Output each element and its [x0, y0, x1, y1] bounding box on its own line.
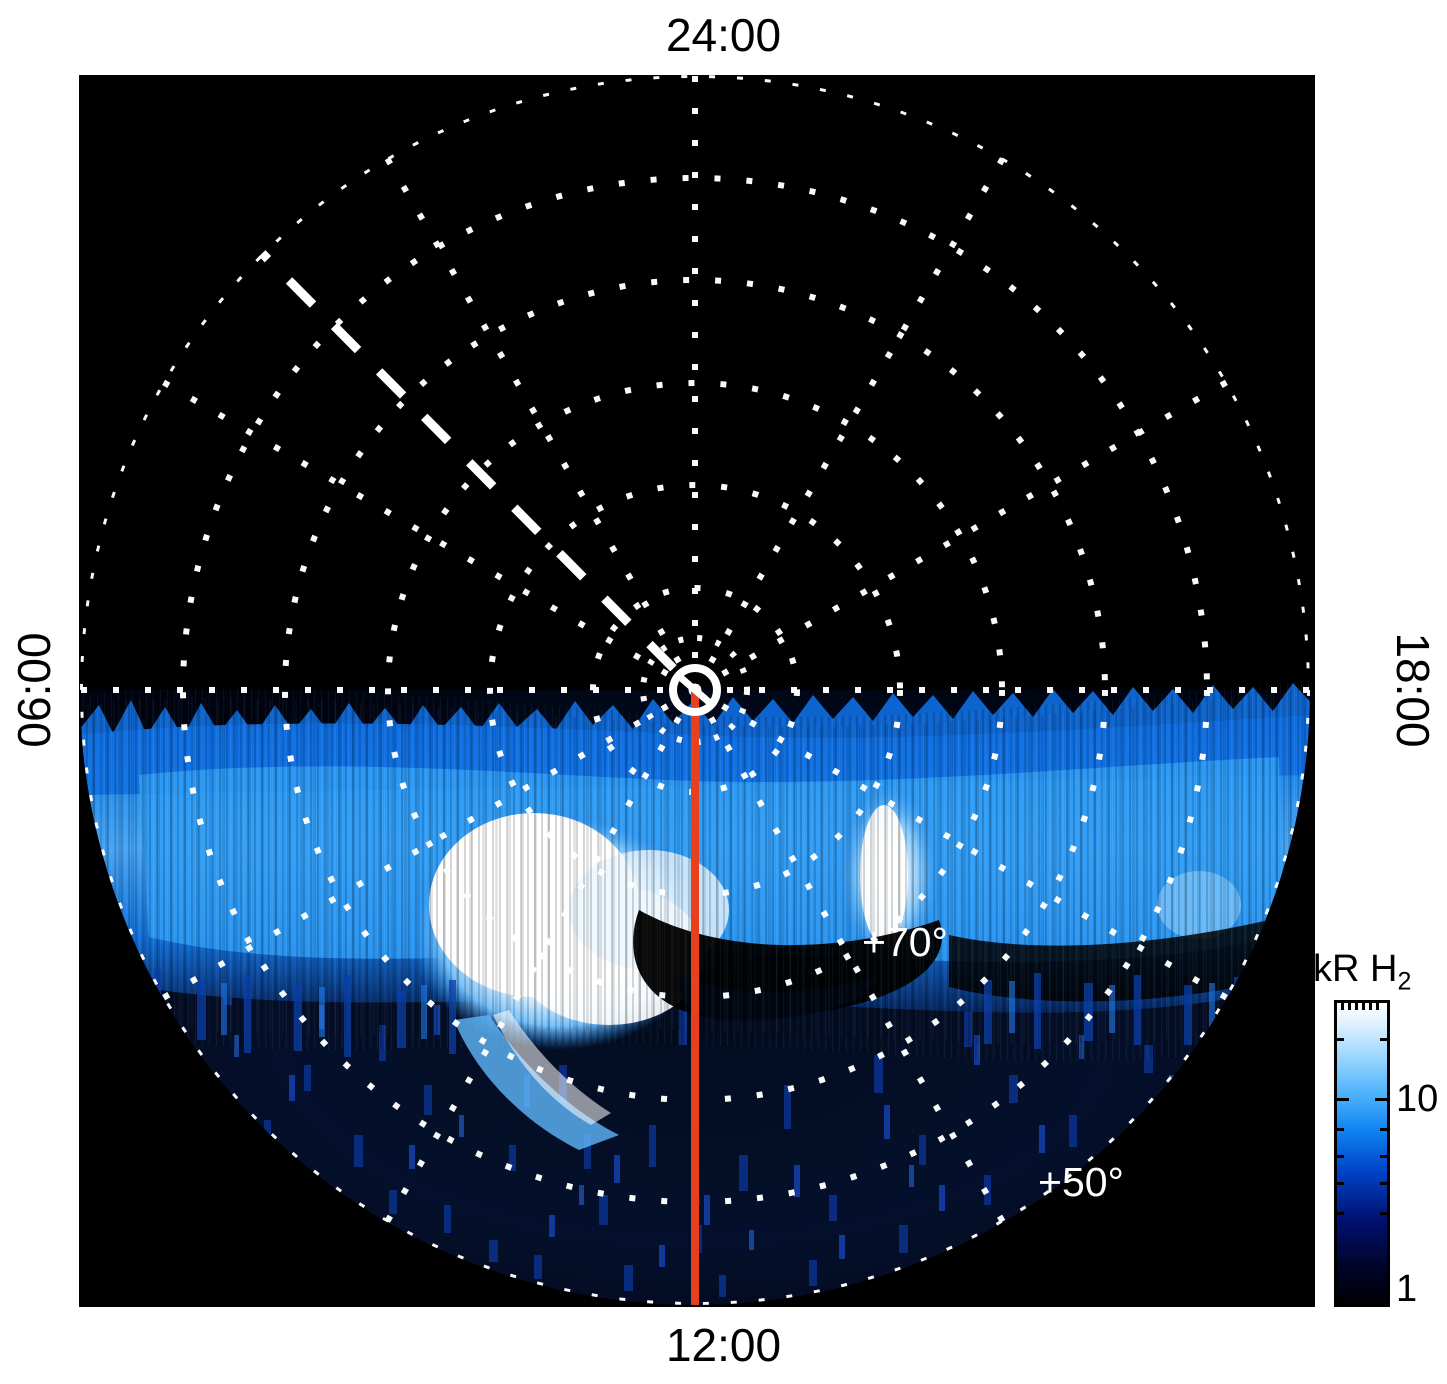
local-time-label-top: 24:00 [0, 12, 1447, 58]
local-time-label-right: 18:00 [1390, 590, 1436, 790]
colorbar-tick [1380, 1128, 1387, 1131]
colorbar-tick [1337, 1182, 1344, 1185]
colorbar-gradient [1334, 1000, 1390, 1307]
colorbar-tick [1337, 1038, 1344, 1041]
latitude-label-50: +50° [1038, 1162, 1124, 1203]
plot-panel: +70° +50° [79, 75, 1315, 1307]
colorbar-container [1334, 1000, 1390, 1307]
colorbar-tick [1337, 1212, 1344, 1215]
colorbar-tick [1380, 1155, 1387, 1158]
colorbar-tick [1341, 1003, 1344, 1010]
colorbar-tick [1380, 1212, 1387, 1215]
colorbar-tick-major [1337, 1098, 1349, 1101]
colorbar-tick [1380, 1038, 1387, 1041]
colorbar-tick [1380, 1182, 1387, 1185]
latitude-label-70: +70° [862, 922, 948, 963]
aurora-image-layer [79, 75, 1315, 1307]
colorbar-title: kR H2 [1313, 950, 1411, 995]
colorbar-title-subscript: 2 [1397, 968, 1411, 996]
colorbar-tick [1337, 1155, 1344, 1158]
local-time-label-bottom: 12:00 [0, 1322, 1447, 1368]
colorbar-title-text: kR H [1313, 948, 1397, 990]
colorbar-tick-major [1375, 1098, 1387, 1101]
colorbar-tick [1337, 1128, 1344, 1131]
polar-auroral-figure: +70° +50° 24:00 12:00 06:00 18:00 kR H2 … [0, 0, 1447, 1384]
local-time-label-left: 06:00 [11, 590, 57, 790]
colorbar-label-1: 1 [1396, 1270, 1417, 1308]
colorbar-tick [1369, 1003, 1372, 1010]
colorbar-tick [1376, 1003, 1379, 1010]
colorbar-tick [1362, 1003, 1365, 1010]
colorbar-label-10: 10 [1396, 1080, 1438, 1118]
colorbar-tick [1348, 1003, 1351, 1010]
polar-projection-canvas [79, 75, 1315, 1307]
colorbar-tick [1355, 1003, 1358, 1010]
